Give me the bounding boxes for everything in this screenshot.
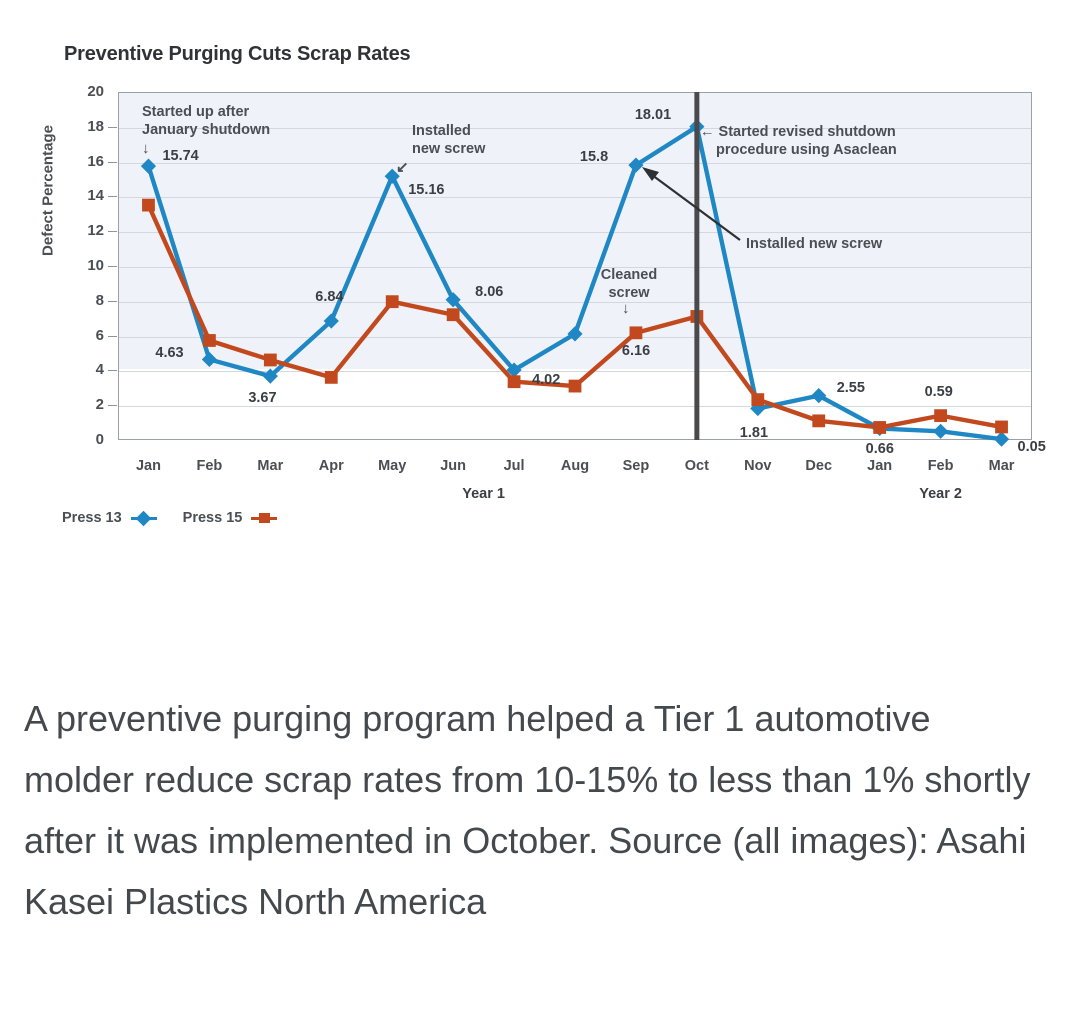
data-point-label: 0.05 — [1018, 439, 1046, 455]
figure-caption: A preventive purging program helped a Ti… — [24, 688, 1044, 932]
data-point-label: 2.55 — [837, 380, 865, 396]
data-point-label: 8.06 — [475, 284, 503, 300]
annotation-installed-screw-may: Installed new screw — [412, 122, 485, 158]
data-point-square[interactable] — [203, 334, 216, 347]
data-point-square[interactable] — [325, 371, 338, 384]
data-point-square[interactable] — [264, 354, 277, 367]
data-point-square[interactable] — [812, 414, 825, 427]
arrow-down-left-icon-installed-screw-may: ↙ — [396, 158, 409, 176]
annotation-revised-shutdown-line1: ← Started revised shutdown — [700, 124, 896, 140]
data-point-label: 15.16 — [408, 182, 444, 198]
series-lines — [0, 0, 1080, 560]
arrow-down-icon-started-up: ↓ — [142, 140, 150, 157]
data-point-label: 0.66 — [866, 441, 894, 457]
annotation-cleaned-screw-line1: Cleaned — [601, 267, 657, 283]
chart-page: Preventive Purging Cuts Scrap Rates Defe… — [0, 0, 1080, 1016]
data-point-square[interactable] — [751, 393, 764, 406]
data-point-label: 4.63 — [155, 345, 183, 361]
legend-label-press-15: Press 15 — [183, 510, 243, 526]
data-point-label: 3.67 — [248, 390, 276, 406]
data-point-diamond[interactable] — [933, 424, 948, 439]
data-point-label: 15.8 — [580, 149, 608, 165]
annotation-installed-screw-sep: Installed new screw — [746, 235, 882, 253]
data-point-label: 4.02 — [532, 372, 560, 388]
annotation-started-up-line1: Started up after — [142, 104, 249, 120]
data-point-square[interactable] — [934, 409, 947, 422]
data-point-square[interactable] — [142, 199, 155, 212]
legend-item-press-13[interactable]: Press 13 — [62, 510, 157, 526]
diamond-marker-icon — [131, 511, 157, 525]
data-point-square[interactable] — [995, 421, 1008, 434]
legend-item-press-15[interactable]: Press 15 — [183, 510, 278, 526]
chart-legend: Press 13 Press 15 — [62, 510, 277, 526]
annotation-installed-screw-may-line2: new screw — [412, 141, 485, 157]
annotation-revised-shutdown-line2: procedure using Asaclean — [716, 141, 897, 159]
data-point-square[interactable] — [569, 380, 582, 393]
annotation-cleaned-screw-line2: screw — [608, 285, 649, 301]
data-point-square[interactable] — [447, 308, 460, 321]
annotation-installed-screw-sep-line1: Installed new screw — [746, 236, 882, 252]
data-point-square[interactable] — [630, 326, 643, 339]
arrow-down-icon-cleaned-screw: ↓ — [622, 300, 630, 317]
data-point-label: 1.81 — [740, 425, 768, 441]
data-point-label: 6.16 — [622, 343, 650, 359]
legend-label-press-13: Press 13 — [62, 510, 122, 526]
annotation-revised-shutdown: ← Started revised shutdown procedure usi… — [700, 123, 897, 159]
data-point-square[interactable] — [508, 375, 521, 388]
data-point-label: 15.74 — [162, 148, 198, 164]
square-marker-icon — [251, 511, 277, 525]
chart-figure: Preventive Purging Cuts Scrap Rates Defe… — [0, 0, 1080, 560]
data-point-square[interactable] — [386, 295, 399, 308]
annotation-started-up-line2: January shutdown — [142, 122, 270, 138]
data-point-label: 18.01 — [635, 107, 671, 123]
annotation-cleaned-screw: Cleaned screw — [591, 266, 667, 302]
data-point-square[interactable] — [873, 421, 886, 434]
data-point-diamond[interactable] — [994, 432, 1009, 447]
data-point-label: 0.59 — [925, 384, 953, 400]
data-point-diamond[interactable] — [202, 352, 217, 367]
annotation-installed-screw-may-line1: Installed — [412, 123, 471, 139]
annotation-started-up: Started up after January shutdown — [142, 103, 270, 139]
data-point-label: 6.84 — [315, 289, 343, 305]
installed-new-screw-leader-icon — [642, 167, 740, 240]
data-point-diamond[interactable] — [141, 159, 156, 174]
